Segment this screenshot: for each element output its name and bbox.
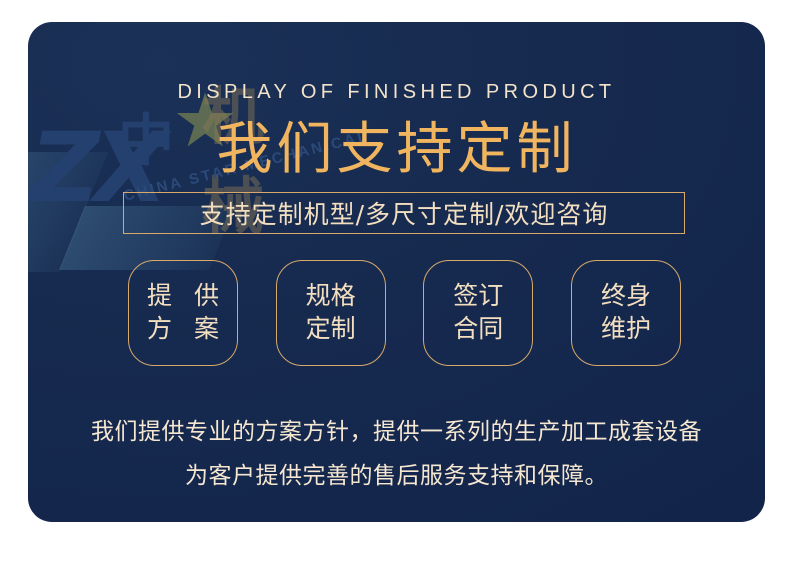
card-content: DISPLAY OF FINISHED PRODUCT 我们支持定制 支持定制机… [28, 22, 765, 522]
feature-card-contract: 签订 合同 [423, 260, 533, 366]
description-paragraph: 我们提供专业的方案方针，提供一系列的生产加工成套设备 为客户提供完善的售后服务支… [28, 410, 765, 498]
eyebrow-text: DISPLAY OF FINISHED PRODUCT [28, 81, 765, 104]
feature-label-line1: 签订 [453, 282, 503, 311]
feature-label-line1: 终身 [601, 282, 651, 311]
feature-label-line2: 方 案 [140, 315, 226, 344]
description-line-2: 为客户提供完善的售后服务支持和保障。 [28, 454, 765, 498]
page-title: 我们支持定制 [28, 118, 765, 182]
page-background: ★ 机械 ZX 中 CHINA STAR MECHANICAL ★ 机械 ZX … [0, 0, 790, 564]
feature-card-plan: 提 供 方 案 [128, 260, 238, 366]
feature-card-maintenance: 终身 维护 [571, 260, 681, 366]
feature-label-line1: 提 供 [140, 282, 226, 311]
feature-label-line1: 规格 [306, 282, 356, 311]
feature-card-spec: 规格 定制 [276, 260, 386, 366]
feature-label-line2: 合同 [453, 315, 503, 344]
subtitle-text: 支持定制机型/多尺寸定制/欢迎咨询 [200, 195, 609, 231]
feature-label-line2: 维护 [601, 315, 651, 344]
description-line-1: 我们提供专业的方案方针，提供一系列的生产加工成套设备 [28, 410, 765, 454]
promo-card: ★ 机械 ZX 中 CHINA STAR MECHANICAL ★ 机械 ZX … [28, 22, 765, 522]
subtitle-box: 支持定制机型/多尺寸定制/欢迎咨询 [123, 192, 685, 234]
feature-label-line2: 定制 [306, 315, 356, 344]
feature-list: 提 供 方 案 规格 定制 签订 合同 终身 维护 [128, 260, 681, 366]
